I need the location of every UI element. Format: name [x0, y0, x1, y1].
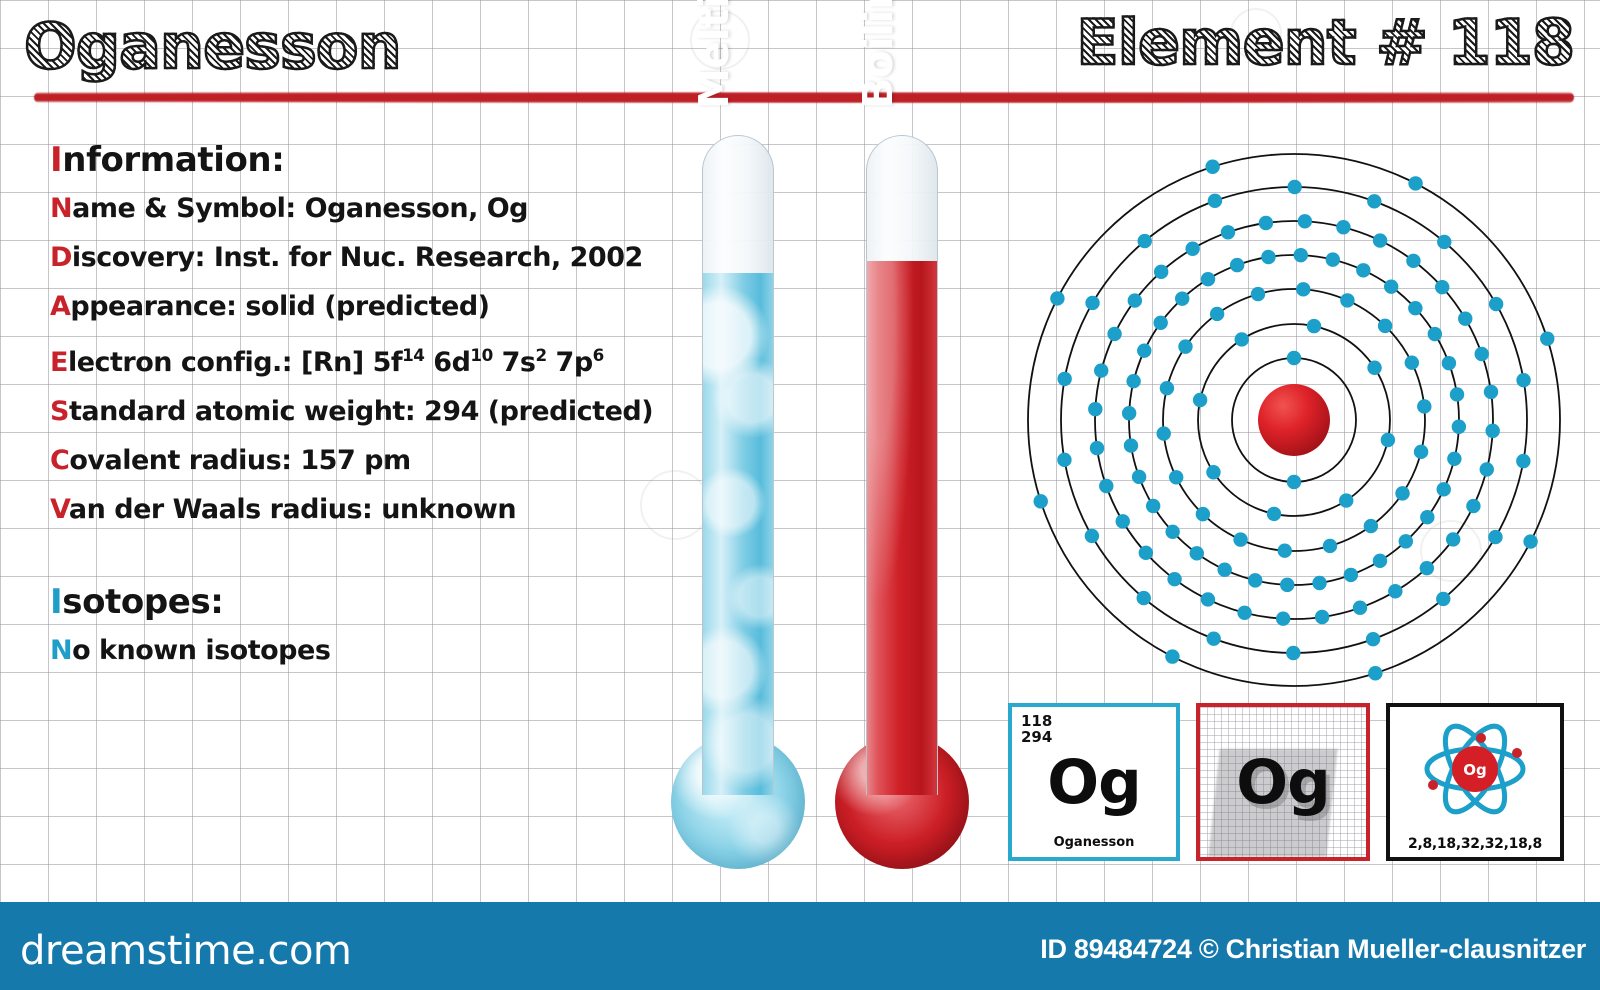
electron-dot — [1428, 327, 1442, 341]
electron-dot — [1486, 424, 1500, 438]
information-line-text: iscovery: Inst. for Nuc. Research, 2002 — [72, 242, 643, 273]
electron-dot — [1196, 507, 1210, 521]
electron-dot — [1367, 194, 1381, 208]
electron-dot — [1139, 546, 1153, 560]
information-lines: Name & Symbol: Oganesson, OgDiscovery: I… — [50, 184, 710, 534]
infographic-page: Oganesson Element # 118 Information: Nam… — [0, 0, 1600, 990]
electron-dot — [1088, 402, 1102, 416]
isotopes-line: No known isotopes — [50, 626, 650, 675]
electron-dot — [1323, 539, 1337, 553]
electron-dot — [1116, 514, 1130, 528]
electron-dot — [1205, 160, 1219, 174]
information-line-text: ovalent radius: 157 pm — [69, 445, 410, 476]
information-line: Covalent radius: 157 pm — [50, 436, 710, 485]
tile-name: Oganesson — [1012, 835, 1176, 850]
electron-dot — [1034, 494, 1048, 508]
electron-dot — [1366, 632, 1380, 646]
electron-dot — [1280, 578, 1294, 592]
electron-dot — [1437, 482, 1451, 496]
atom-icon-symbol: Og — [1463, 761, 1487, 779]
electron-dot — [1364, 519, 1378, 533]
electron-dot — [1466, 499, 1480, 513]
electron-dot — [1190, 546, 1204, 560]
electron-dot — [1207, 632, 1221, 646]
electron-dot — [1154, 265, 1168, 279]
information-line-text: lectron config.: [Rn] 5f14 6d10 7s2 7p6 — [68, 347, 604, 378]
electron-dot — [1267, 507, 1281, 521]
electron-dot — [1298, 214, 1312, 228]
electron-dot — [1137, 591, 1151, 605]
information-line-text: ppearance: solid (predicted) — [70, 291, 489, 322]
electron-dot — [1435, 280, 1449, 294]
electron-dot — [1169, 470, 1183, 484]
electron-dot — [1388, 584, 1402, 598]
electron-dot — [1050, 291, 1064, 305]
electron-dot — [1132, 470, 1146, 484]
information-line-text: tandard atomic weight: 294 (predicted) — [69, 396, 653, 427]
electron-dot — [1540, 331, 1554, 345]
electron-dot — [1458, 311, 1472, 325]
electron-dot — [1287, 351, 1301, 365]
electron-dot — [1057, 453, 1071, 467]
electron-dot — [1395, 486, 1409, 500]
electron-dot — [1167, 572, 1181, 586]
information-line-cap: D — [50, 242, 72, 273]
electron-dot — [1287, 180, 1301, 194]
footer-bar: dreamstime.com ID 89484724 © Christian M… — [0, 902, 1600, 990]
electron-dot — [1340, 293, 1354, 307]
information-panel: Information: Name & Symbol: Oganesson, O… — [50, 140, 710, 534]
information-line-text: an der Waals radius: unknown — [69, 494, 516, 525]
electron-dot — [1437, 235, 1451, 249]
information-line-cap: V — [50, 494, 69, 525]
electron-dot — [1336, 220, 1350, 234]
electron-dot — [1099, 479, 1113, 493]
information-heading-cap: I — [50, 140, 62, 180]
footer-credit: ID 89484724 © Christian Mueller-clausnit… — [1040, 934, 1586, 965]
electron-dot — [1307, 319, 1321, 333]
electron-shell-diagram — [1022, 142, 1582, 698]
electron-dot — [1153, 316, 1167, 330]
electron-dot — [1201, 592, 1215, 606]
isotopes-panel: Isotopes: No known isotopes — [50, 582, 650, 675]
atom-icon-electron — [1476, 733, 1486, 743]
electron-dot — [1085, 529, 1099, 543]
electron-dot — [1484, 385, 1498, 399]
information-heading-rest: nformation: — [62, 140, 284, 180]
electron-dot — [1296, 282, 1310, 296]
electron-dot — [1315, 610, 1329, 624]
electron-dot — [1353, 601, 1367, 615]
isotopes-line-cap: N — [50, 635, 72, 666]
atom-icon-tile: Og 2,8,18,32,32,18,8 — [1386, 703, 1564, 861]
electron-dot — [1378, 319, 1392, 333]
electron-dot — [1344, 568, 1358, 582]
electron-dot — [1384, 279, 1398, 293]
electron-dot — [1294, 248, 1308, 262]
tile-symbol: Og — [1012, 747, 1176, 818]
atom-icon-electron — [1512, 748, 1522, 758]
atom-icon-electron — [1428, 780, 1438, 790]
information-line-cap: S — [50, 396, 69, 427]
electron-dot — [1128, 293, 1142, 307]
information-line: Name & Symbol: Oganesson, Og — [50, 184, 710, 233]
information-line: Discovery: Inst. for Nuc. Research, 2002 — [50, 233, 710, 282]
information-line: Electron config.: [Rn] 5f14 6d10 7s2 7p6 — [50, 331, 710, 387]
electron-dot — [1312, 576, 1326, 590]
isotopes-heading-cap: I — [50, 582, 62, 622]
tile-atomic-weight: 294 — [1021, 729, 1052, 745]
electron-dot — [1235, 332, 1249, 346]
melting-thermometer-fill — [703, 273, 773, 795]
electron-dot — [1488, 530, 1502, 544]
electron-dot — [1367, 361, 1381, 375]
electron-dot — [1276, 612, 1290, 626]
electron-dot — [1326, 252, 1340, 266]
electron-dot — [1178, 339, 1192, 353]
electron-dot — [1146, 499, 1160, 513]
boiling-thermometer-fill — [867, 261, 937, 795]
electron-dot — [1368, 666, 1382, 680]
electron-dot — [1165, 649, 1179, 663]
information-line-text: ame & Symbol: Oganesson, Og — [72, 193, 528, 224]
electron-dot — [1138, 234, 1152, 248]
atom-icon: Og — [1390, 711, 1560, 831]
electron-dot — [1107, 327, 1121, 341]
tile-atomic-number: 118 — [1021, 713, 1052, 729]
information-line-cap: N — [50, 193, 72, 224]
electron-dot — [1475, 347, 1489, 361]
electron-dot — [1356, 263, 1370, 277]
electron-dot — [1286, 646, 1300, 660]
electron-dot — [1206, 465, 1220, 479]
electron-dot — [1137, 343, 1151, 357]
tile-numbers: 118 294 — [1021, 713, 1052, 745]
electron-dot — [1090, 441, 1104, 455]
electron-dot — [1452, 420, 1466, 434]
electron-dot — [1450, 387, 1464, 401]
electron-dot — [1287, 475, 1301, 489]
electron-dot — [1165, 525, 1179, 539]
electron-dot — [1480, 462, 1494, 476]
electron-dot — [1516, 454, 1530, 468]
electron-dot — [1217, 563, 1231, 577]
electron-dot — [1124, 438, 1138, 452]
isotopes-line-rest: o known isotopes — [72, 635, 330, 666]
electron-dot — [1248, 573, 1262, 587]
appearance-symbol: Og — [1200, 747, 1366, 818]
appearance-tile: Og — [1196, 703, 1370, 861]
electron-dot — [1523, 534, 1537, 548]
electron-dot — [1446, 532, 1460, 546]
electron-dot — [1373, 233, 1387, 247]
electron-dot — [1420, 510, 1434, 524]
shell-config-label: 2,8,18,32,32,18,8 — [1390, 836, 1560, 852]
electron-dot — [1175, 291, 1189, 305]
electron-dot — [1417, 399, 1431, 413]
electron-dot — [1261, 250, 1275, 264]
boiling-thermometer-tube — [866, 135, 938, 795]
melting-thermometer-tube — [702, 135, 774, 795]
electron-dot — [1406, 254, 1420, 268]
electron-dot — [1442, 356, 1456, 370]
electron-dot — [1420, 561, 1434, 575]
electron-dot — [1230, 258, 1244, 272]
information-line: Standard atomic weight: 294 (predicted) — [50, 387, 710, 436]
information-line-cap: A — [50, 291, 70, 322]
electron-dot — [1516, 373, 1530, 387]
periodic-table-tile: 118 294 Og Oganesson — [1008, 703, 1180, 861]
information-line: Van der Waals radius: unknown — [50, 485, 710, 534]
isotopes-heading-rest: sotopes: — [62, 582, 223, 622]
electron-dot — [1489, 297, 1503, 311]
header: Oganesson Element # 118 — [0, 0, 1600, 108]
electron-dot — [1259, 216, 1273, 230]
isotopes-heading: Isotopes: — [50, 582, 650, 622]
electron-dot — [1237, 606, 1251, 620]
information-line-cap: C — [50, 445, 69, 476]
information-line: Appearance: solid (predicted) — [50, 282, 710, 331]
element-number-title: Element # 118 — [1076, 6, 1574, 79]
electron-dot — [1233, 532, 1247, 546]
electron-dot — [1399, 534, 1413, 548]
electron-dot — [1160, 381, 1174, 395]
electron-dot — [1122, 406, 1136, 420]
electron-dot — [1208, 194, 1222, 208]
electron-dot — [1339, 493, 1353, 507]
boiling-point-label: Boiling Point: 350 K — [854, 0, 902, 109]
electron-dot — [1201, 272, 1215, 286]
header-divider — [34, 92, 1574, 103]
electron-shell-svg — [1022, 142, 1582, 698]
electron-dot — [1436, 592, 1450, 606]
electron-dot — [1210, 307, 1224, 321]
electron-dot — [1057, 372, 1071, 386]
electron-dot — [1193, 393, 1207, 407]
information-line-cap: E — [50, 347, 68, 378]
nucleus — [1258, 384, 1330, 456]
electron-dot — [1408, 301, 1422, 315]
electron-dot — [1408, 176, 1422, 190]
electron-dot — [1251, 287, 1265, 301]
page-title: Oganesson — [24, 10, 401, 83]
dreamstime-logo: dreamstime.com — [20, 928, 351, 974]
information-heading: Information: — [50, 140, 710, 180]
electron-dot — [1278, 543, 1292, 557]
electron-dot — [1185, 242, 1199, 256]
electron-dot — [1414, 445, 1428, 459]
electron-dot — [1157, 426, 1171, 440]
electron-dot — [1221, 225, 1235, 239]
electron-dot — [1405, 356, 1419, 370]
electron-dot — [1447, 452, 1461, 466]
electron-dot — [1126, 374, 1140, 388]
melting-point-label: Melting Point: n/a — [690, 0, 738, 109]
electron-dot — [1094, 363, 1108, 377]
electron-dot — [1381, 433, 1395, 447]
electron-dot — [1085, 296, 1099, 310]
electron-dot — [1373, 554, 1387, 568]
